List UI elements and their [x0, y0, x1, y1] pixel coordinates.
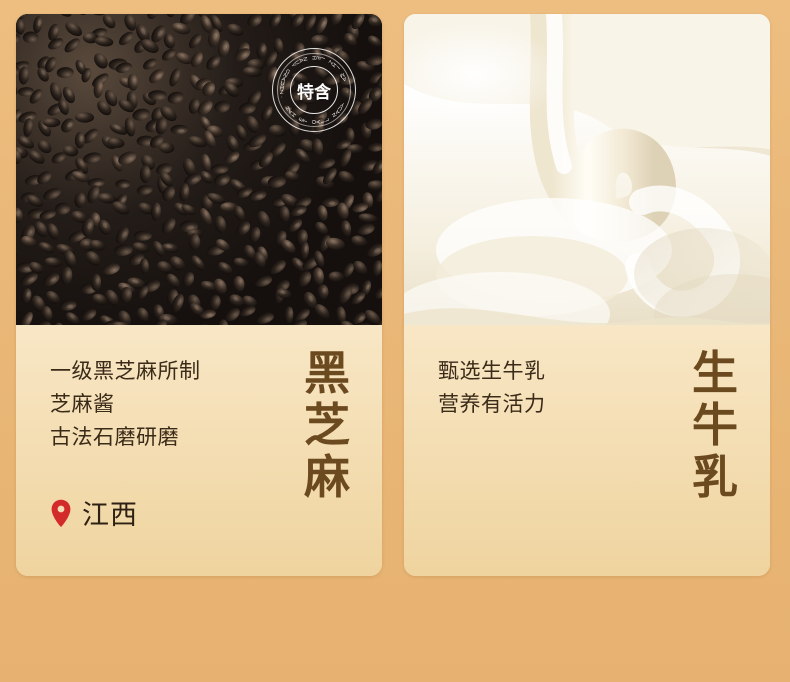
description-line-1: 甄选生牛乳	[438, 355, 678, 388]
black-sesame-description: 一级黑芝麻所制 芝麻酱 古法石磨研磨	[50, 355, 290, 454]
origin-location: 江西	[50, 493, 138, 532]
black-sesame-photo: ZHUANG YUAN HEI ZHI MA · YUAN LIAO TE HA…	[16, 14, 382, 325]
product-feature-panel: ZHUANG YUAN HEI ZHI MA · YUAN LIAO TE HA…	[0, 0, 790, 682]
vertical-title-char-2: 芝	[300, 399, 354, 451]
description-line-3: 古法石磨研磨	[50, 421, 290, 454]
description-line-2: 营养有活力	[438, 388, 678, 421]
feature-cards-row: ZHUANG YUAN HEI ZHI MA · YUAN LIAO TE HA…	[0, 0, 790, 576]
raw-milk-photo	[404, 14, 770, 325]
black-sesame-card-body: 一级黑芝麻所制 芝麻酱 古法石磨研磨 黑 芝 麻 江西	[16, 325, 382, 576]
description-line-1: 一级黑芝麻所制	[50, 355, 290, 388]
raw-milk-description: 甄选生牛乳 营养有活力	[438, 355, 678, 421]
description-line-2: 芝麻酱	[50, 388, 290, 421]
raw-milk-card-body: 甄选生牛乳 营养有活力 生 牛 乳	[404, 325, 770, 576]
map-pin-icon	[50, 499, 72, 527]
vertical-title-char-1: 生	[688, 347, 742, 399]
feature-card-raw-milk[interactable]: 甄选生牛乳 营养有活力 生 牛 乳	[404, 14, 770, 576]
seal-ring-text: ZHUANG YUAN HEI ZHI MA · YUAN LIAO TE HA…	[273, 49, 355, 131]
raw-milk-vertical-title: 生 牛 乳	[688, 347, 742, 503]
vertical-title-char-1: 黑	[300, 347, 354, 399]
vertical-title-char-3: 乳	[688, 451, 742, 503]
special-content-seal: ZHUANG YUAN HEI ZHI MA · YUAN LIAO TE HA…	[272, 48, 356, 132]
vertical-title-char-3: 麻	[300, 451, 354, 503]
black-sesame-vertical-title: 黑 芝 麻	[300, 347, 354, 503]
milk-pour-illustration	[404, 14, 770, 325]
vertical-title-char-2: 牛	[688, 399, 742, 451]
feature-card-black-sesame[interactable]: ZHUANG YUAN HEI ZHI MA · YUAN LIAO TE HA…	[16, 14, 382, 576]
origin-location-label: 江西	[82, 493, 138, 532]
